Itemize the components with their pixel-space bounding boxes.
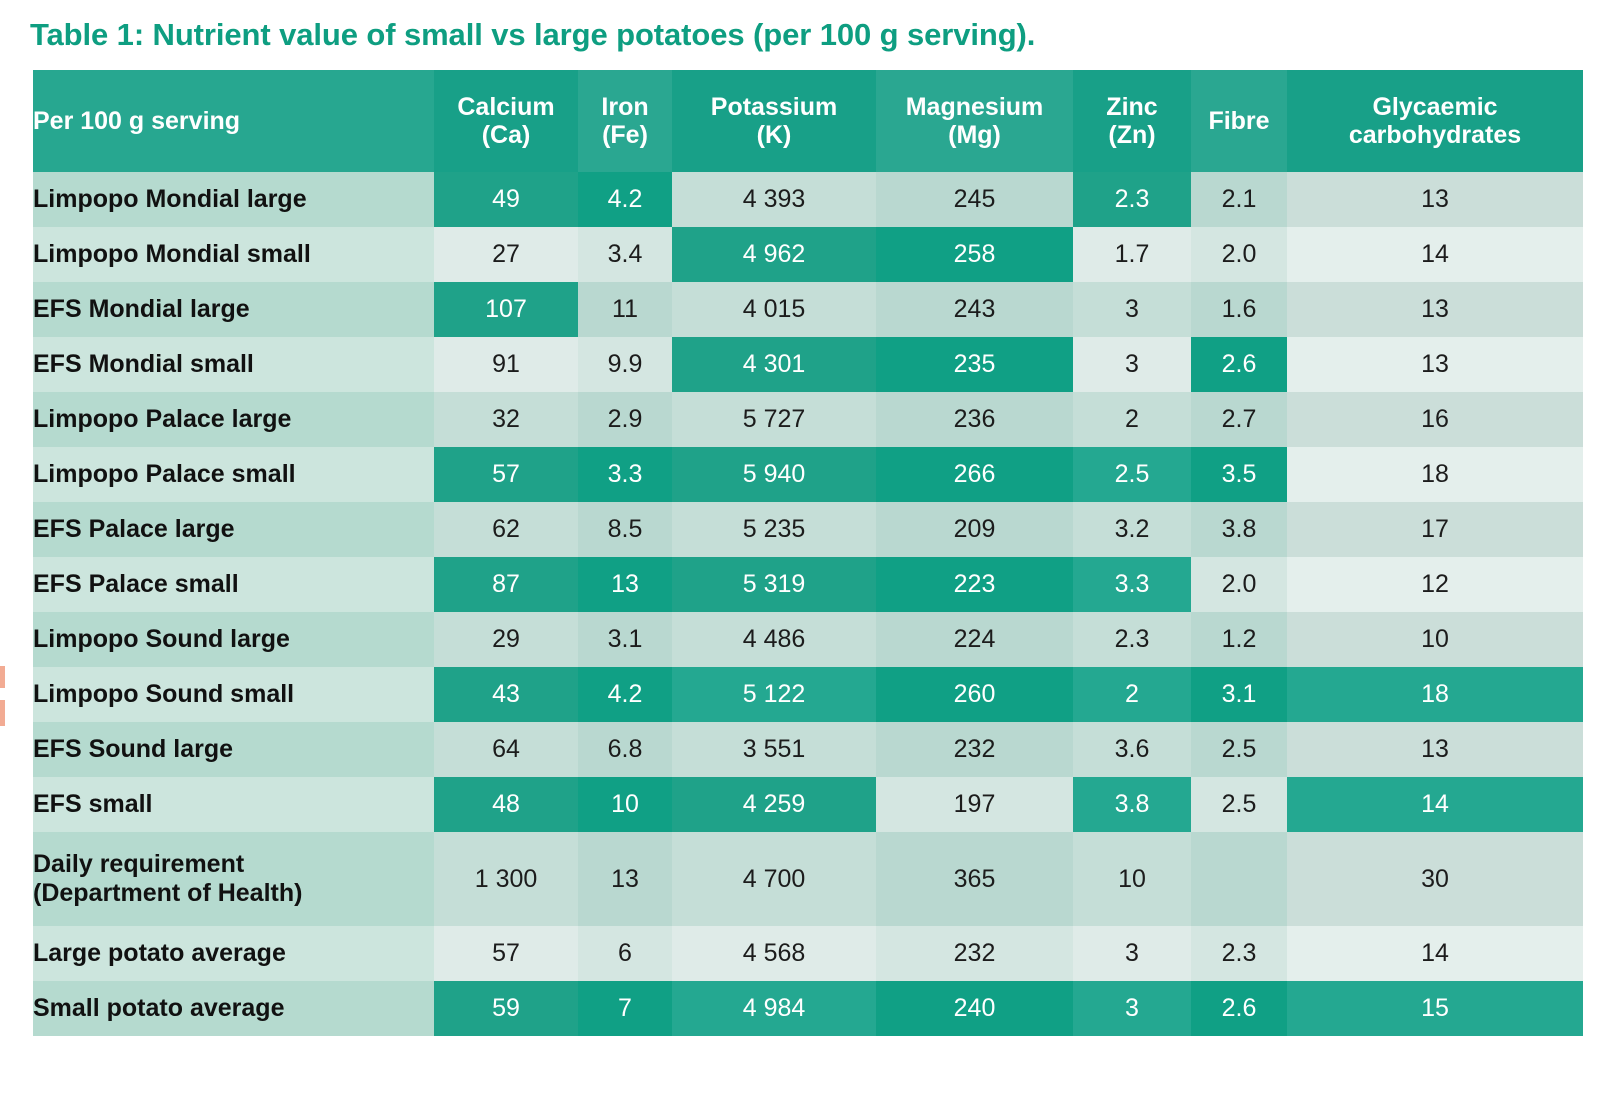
- cell-fibre: 3.8: [1191, 502, 1287, 557]
- cell-glycaemic: 14: [1287, 777, 1583, 832]
- row-label: EFS Palace large: [33, 502, 434, 557]
- table-row: EFS Palace large 62 8.5 5 235 209 3.2 3.…: [33, 502, 1583, 557]
- cell-fibre: 1.6: [1191, 282, 1287, 337]
- table-page: Table 1: Nutrient value of small vs larg…: [0, 0, 1616, 1116]
- scan-edge-mark-bottom: [0, 700, 5, 726]
- column-header-potassium-line2: (K): [757, 121, 792, 149]
- cell-zinc: 3: [1073, 282, 1191, 337]
- row-label: EFS Palace small: [33, 557, 434, 612]
- cell-potassium: 3 551: [672, 722, 876, 777]
- column-header-iron-line2: (Fe): [602, 121, 648, 149]
- cell-calcium: 91: [434, 337, 578, 392]
- table-body: Limpopo Mondial large 49 4.2 4 393 245 2…: [33, 172, 1583, 1036]
- column-header-magnesium-line2: (Mg): [948, 121, 1001, 149]
- cell-zinc: 1.7: [1073, 227, 1191, 282]
- cell-zinc: 2.5: [1073, 447, 1191, 502]
- cell-potassium: 4 984: [672, 981, 876, 1036]
- cell-iron: 9.9: [578, 337, 672, 392]
- row-label-line2: (Department of Health): [33, 879, 302, 907]
- cell-calcium: 49: [434, 172, 578, 227]
- cell-fibre: 2.0: [1191, 557, 1287, 612]
- cell-magnesium: 224: [876, 612, 1073, 667]
- cell-magnesium: 236: [876, 392, 1073, 447]
- cell-potassium: 4 393: [672, 172, 876, 227]
- cell-glycaemic: 13: [1287, 722, 1583, 777]
- row-label: Limpopo Sound large: [33, 612, 434, 667]
- cell-fibre: 2.7: [1191, 392, 1287, 447]
- cell-magnesium: 365: [876, 832, 1073, 926]
- header-row: Per 100 g serving Calcium (Ca) Iron (Fe)…: [33, 70, 1583, 172]
- cell-zinc: 2: [1073, 392, 1191, 447]
- cell-zinc: 3: [1073, 337, 1191, 392]
- table-row: EFS Palace small 87 13 5 319 223 3.3 2.0…: [33, 557, 1583, 612]
- column-header-fibre-label: Fibre: [1208, 107, 1269, 135]
- cell-iron: 11: [578, 282, 672, 337]
- cell-calcium: 48: [434, 777, 578, 832]
- table-row: Daily requirement (Department of Health)…: [33, 832, 1583, 926]
- table-row: Limpopo Palace small 57 3.3 5 940 266 2.…: [33, 447, 1583, 502]
- cell-calcium: 62: [434, 502, 578, 557]
- cell-zinc: 10: [1073, 832, 1191, 926]
- cell-magnesium: 197: [876, 777, 1073, 832]
- cell-glycaemic: 17: [1287, 502, 1583, 557]
- cell-fibre: 2.6: [1191, 981, 1287, 1036]
- column-header-zinc: Zinc (Zn): [1073, 70, 1191, 172]
- cell-calcium: 43: [434, 667, 578, 722]
- cell-glycaemic: 16: [1287, 392, 1583, 447]
- cell-iron: 4.2: [578, 172, 672, 227]
- cell-zinc: 3.8: [1073, 777, 1191, 832]
- cell-calcium: 29: [434, 612, 578, 667]
- cell-potassium: 5 940: [672, 447, 876, 502]
- cell-potassium: 4 486: [672, 612, 876, 667]
- cell-calcium: 87: [434, 557, 578, 612]
- cell-fibre: 2.0: [1191, 227, 1287, 282]
- cell-glycaemic: 18: [1287, 667, 1583, 722]
- cell-glycaemic: 14: [1287, 926, 1583, 981]
- cell-calcium: 1 300: [434, 832, 578, 926]
- table-row: Large potato average 57 6 4 568 232 3 2.…: [33, 926, 1583, 981]
- cell-iron: 3.3: [578, 447, 672, 502]
- table-title: Table 1: Nutrient value of small vs larg…: [30, 12, 1590, 58]
- cell-iron: 10: [578, 777, 672, 832]
- cell-glycaemic: 15: [1287, 981, 1583, 1036]
- column-header-zinc-line1: Zinc: [1106, 93, 1157, 121]
- column-header-serving: Per 100 g serving: [33, 70, 434, 172]
- cell-calcium: 107: [434, 282, 578, 337]
- table-row: EFS small 48 10 4 259 197 3.8 2.5 14: [33, 777, 1583, 832]
- cell-fibre: 1.2: [1191, 612, 1287, 667]
- column-header-calcium: Calcium (Ca): [434, 70, 578, 172]
- cell-magnesium: 245: [876, 172, 1073, 227]
- cell-glycaemic: 10: [1287, 612, 1583, 667]
- cell-fibre: 3.1: [1191, 667, 1287, 722]
- table-row: Limpopo Mondial large 49 4.2 4 393 245 2…: [33, 172, 1583, 227]
- cell-potassium: 4 015: [672, 282, 876, 337]
- cell-potassium: 4 301: [672, 337, 876, 392]
- column-header-iron-line1: Iron: [601, 93, 648, 121]
- cell-potassium: 4 259: [672, 777, 876, 832]
- cell-glycaemic: 13: [1287, 172, 1583, 227]
- table-row: Limpopo Mondial small 27 3.4 4 962 258 1…: [33, 227, 1583, 282]
- row-label: Limpopo Mondial small: [33, 227, 434, 282]
- cell-fibre: 2.5: [1191, 722, 1287, 777]
- column-header-magnesium-line1: Magnesium: [906, 93, 1044, 121]
- table-row: EFS Sound large 64 6.8 3 551 232 3.6 2.5…: [33, 722, 1583, 777]
- cell-zinc: 3.6: [1073, 722, 1191, 777]
- cell-magnesium: 209: [876, 502, 1073, 557]
- cell-magnesium: 266: [876, 447, 1073, 502]
- cell-calcium: 27: [434, 227, 578, 282]
- cell-magnesium: 232: [876, 722, 1073, 777]
- column-header-glycaemic: Glycaemic carbohydrates: [1287, 70, 1583, 172]
- column-header-potassium: Potassium (K): [672, 70, 876, 172]
- cell-potassium: 5 235: [672, 502, 876, 557]
- cell-iron: 3.4: [578, 227, 672, 282]
- column-header-potassium-line1: Potassium: [711, 93, 837, 121]
- row-label: Large potato average: [33, 926, 434, 981]
- cell-calcium: 57: [434, 926, 578, 981]
- cell-potassium: 5 319: [672, 557, 876, 612]
- cell-potassium: 4 700: [672, 832, 876, 926]
- cell-iron: 2.9: [578, 392, 672, 447]
- cell-magnesium: 232: [876, 926, 1073, 981]
- column-header-glycaemic-line1: Glycaemic: [1372, 93, 1497, 121]
- nutrient-table: Per 100 g serving Calcium (Ca) Iron (Fe)…: [33, 70, 1583, 1036]
- cell-magnesium: 258: [876, 227, 1073, 282]
- column-header-calcium-line2: (Ca): [482, 121, 531, 149]
- column-header-fibre: Fibre: [1191, 70, 1287, 172]
- cell-glycaemic: 14: [1287, 227, 1583, 282]
- row-label: Daily requirement (Department of Health): [33, 832, 434, 926]
- scan-edge-mark-top: [0, 666, 5, 688]
- row-label-line1: Daily requirement: [33, 850, 244, 878]
- cell-zinc: 3: [1073, 981, 1191, 1036]
- cell-fibre: 3.5: [1191, 447, 1287, 502]
- row-label: EFS small: [33, 777, 434, 832]
- cell-glycaemic: 13: [1287, 282, 1583, 337]
- cell-iron: 4.2: [578, 667, 672, 722]
- table-row: Small potato average 59 7 4 984 240 3 2.…: [33, 981, 1583, 1036]
- cell-potassium: 5 727: [672, 392, 876, 447]
- table-row: EFS Mondial large 107 11 4 015 243 3 1.6…: [33, 282, 1583, 337]
- column-header-magnesium: Magnesium (Mg): [876, 70, 1073, 172]
- cell-calcium: 59: [434, 981, 578, 1036]
- cell-zinc: 2.3: [1073, 172, 1191, 227]
- cell-iron: 13: [578, 557, 672, 612]
- cell-potassium: 4 568: [672, 926, 876, 981]
- cell-magnesium: 223: [876, 557, 1073, 612]
- cell-fibre: [1191, 832, 1287, 926]
- column-header-zinc-line2: (Zn): [1108, 121, 1155, 149]
- column-header-glycaemic-line2: carbohydrates: [1349, 121, 1521, 149]
- row-label: EFS Mondial large: [33, 282, 434, 337]
- cell-calcium: 32: [434, 392, 578, 447]
- column-header-iron: Iron (Fe): [578, 70, 672, 172]
- cell-iron: 3.1: [578, 612, 672, 667]
- column-header-calcium-line1: Calcium: [457, 93, 554, 121]
- cell-glycaemic: 13: [1287, 337, 1583, 392]
- row-label: EFS Mondial small: [33, 337, 434, 392]
- cell-glycaemic: 18: [1287, 447, 1583, 502]
- row-label: Limpopo Palace small: [33, 447, 434, 502]
- cell-zinc: 2: [1073, 667, 1191, 722]
- cell-iron: 6.8: [578, 722, 672, 777]
- cell-potassium: 4 962: [672, 227, 876, 282]
- table-row: EFS Mondial small 91 9.9 4 301 235 3 2.6…: [33, 337, 1583, 392]
- cell-magnesium: 235: [876, 337, 1073, 392]
- cell-calcium: 64: [434, 722, 578, 777]
- cell-magnesium: 243: [876, 282, 1073, 337]
- cell-zinc: 3.2: [1073, 502, 1191, 557]
- cell-calcium: 57: [434, 447, 578, 502]
- cell-fibre: 2.5: [1191, 777, 1287, 832]
- cell-zinc: 3.3: [1073, 557, 1191, 612]
- table-row: Limpopo Sound large 29 3.1 4 486 224 2.3…: [33, 612, 1583, 667]
- cell-iron: 8.5: [578, 502, 672, 557]
- cell-iron: 7: [578, 981, 672, 1036]
- cell-zinc: 2.3: [1073, 612, 1191, 667]
- cell-fibre: 2.1: [1191, 172, 1287, 227]
- cell-iron: 13: [578, 832, 672, 926]
- cell-magnesium: 240: [876, 981, 1073, 1036]
- row-label: Limpopo Palace large: [33, 392, 434, 447]
- row-label: Small potato average: [33, 981, 434, 1036]
- cell-glycaemic: 30: [1287, 832, 1583, 926]
- cell-zinc: 3: [1073, 926, 1191, 981]
- cell-magnesium: 260: [876, 667, 1073, 722]
- table-header: Per 100 g serving Calcium (Ca) Iron (Fe)…: [33, 70, 1583, 172]
- cell-fibre: 2.6: [1191, 337, 1287, 392]
- cell-potassium: 5 122: [672, 667, 876, 722]
- row-label: EFS Sound large: [33, 722, 434, 777]
- column-header-serving-label: Per 100 g serving: [33, 107, 240, 135]
- row-label: Limpopo Sound small: [33, 667, 434, 722]
- table-row: Limpopo Sound small 43 4.2 5 122 260 2 3…: [33, 667, 1583, 722]
- row-label: Limpopo Mondial large: [33, 172, 434, 227]
- cell-iron: 6: [578, 926, 672, 981]
- cell-glycaemic: 12: [1287, 557, 1583, 612]
- table-row: Limpopo Palace large 32 2.9 5 727 236 2 …: [33, 392, 1583, 447]
- cell-fibre: 2.3: [1191, 926, 1287, 981]
